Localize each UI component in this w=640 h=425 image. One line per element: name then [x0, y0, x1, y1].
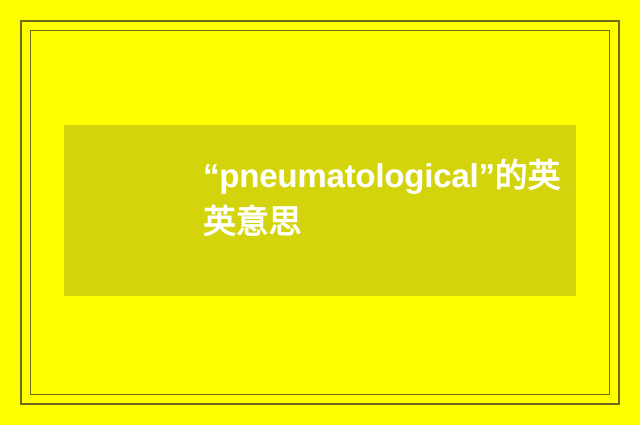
title-panel: “pneumatological”的英英意思: [64, 125, 576, 296]
page-title: “pneumatological”的英英意思: [203, 153, 563, 245]
page-canvas: “pneumatological”的英英意思: [0, 0, 640, 425]
